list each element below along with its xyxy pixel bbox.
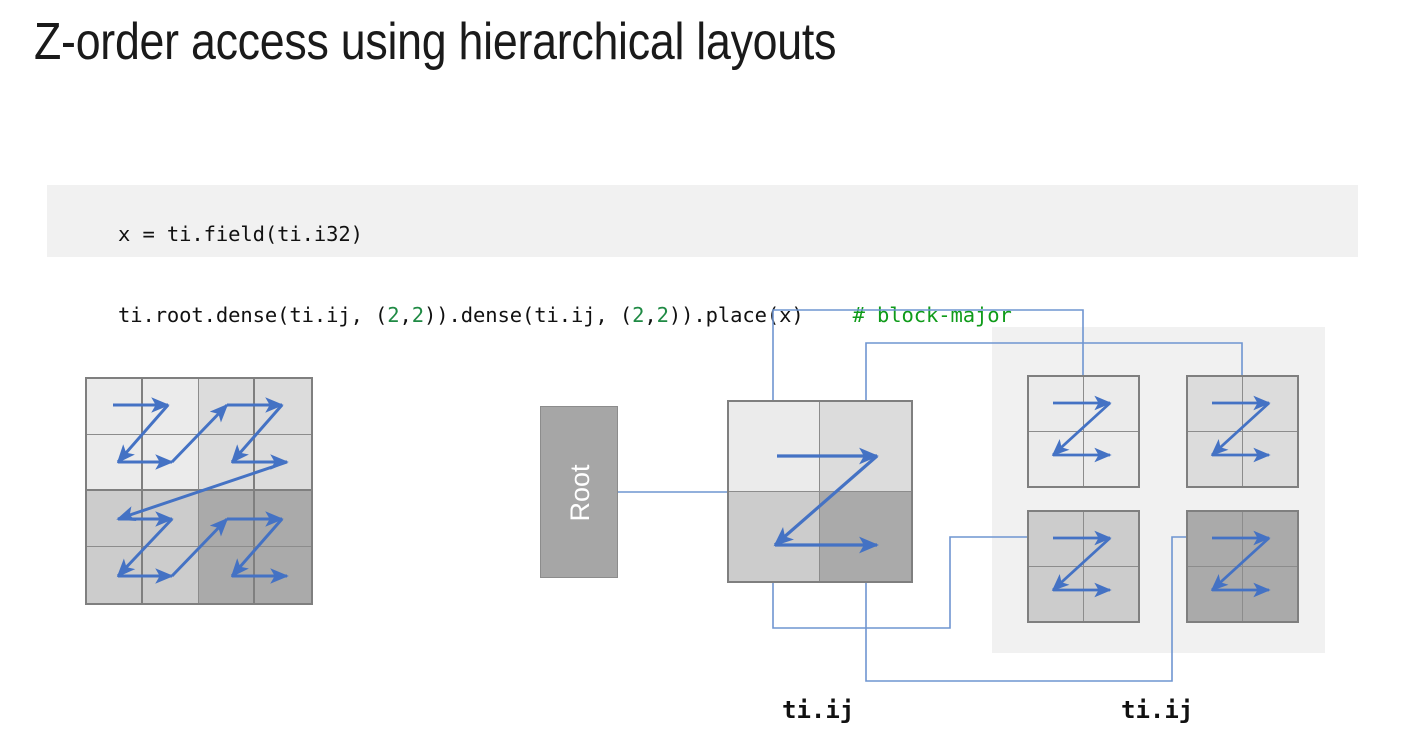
code-line-1: x = ti.field(ti.i32) [69, 194, 1358, 275]
grid-cell [143, 435, 199, 491]
grid-cell [1243, 512, 1298, 567]
grid-cell [1084, 512, 1139, 567]
grid-cell [143, 491, 199, 547]
grid-cell [1029, 377, 1084, 432]
page-title: Z-order access using hierarchical layout… [34, 12, 1152, 72]
grid-cell [87, 435, 143, 491]
grid-cell [1188, 512, 1243, 567]
grid-cell [199, 547, 255, 603]
left-flat-grid [85, 377, 313, 605]
grid-cell [1188, 377, 1243, 432]
block-level-node [727, 400, 913, 583]
code-num-3: 2 [632, 303, 644, 327]
sub-block-top-left [1027, 375, 1140, 488]
grid-cell [87, 491, 143, 547]
grid-cell [1243, 567, 1298, 622]
sub-block-bottom-right [1186, 510, 1299, 623]
grid-cell [87, 547, 143, 603]
grid-cell [255, 547, 311, 603]
code-block: x = ti.field(ti.i32) ti.root.dense(ti.ij… [47, 185, 1358, 257]
grid-cell [729, 402, 820, 492]
grid-cell [1188, 432, 1243, 487]
code-seg-b: )).dense(ti.ij, ( [424, 303, 632, 327]
grid-cell [1084, 377, 1139, 432]
code-comma-1: , [400, 303, 412, 327]
code-num-1: 2 [387, 303, 399, 327]
connector-label-right: ti.ij [1121, 696, 1193, 724]
grid-cell [820, 492, 911, 582]
grid-cell [255, 379, 311, 435]
code-line-1-text: x = ti.field(ti.i32) [118, 222, 363, 246]
connector-label-left: ti.ij [782, 696, 854, 724]
code-seg-a: ti.root.dense(ti.ij, ( [118, 303, 387, 327]
grid-cell [820, 402, 911, 492]
grid-cell [1029, 512, 1084, 567]
code-comment: # block-major [853, 303, 1012, 327]
grid-cell [199, 435, 255, 491]
grid-cell [1188, 567, 1243, 622]
code-seg-c: )).place(x) [669, 303, 804, 327]
grid-cell [87, 379, 143, 435]
grid-cell [1243, 432, 1298, 487]
grid-cell [143, 547, 199, 603]
code-num-2: 2 [412, 303, 424, 327]
code-gap [804, 303, 853, 327]
grid-cell [729, 492, 820, 582]
code-comma-2: , [644, 303, 656, 327]
code-num-4: 2 [657, 303, 669, 327]
grid-cell [199, 491, 255, 547]
root-node-label: Root [541, 407, 619, 579]
grid-cell [1029, 432, 1084, 487]
grid-cell [1084, 567, 1139, 622]
grid-cell [143, 379, 199, 435]
sub-block-bottom-left [1027, 510, 1140, 623]
grid-cell [1084, 432, 1139, 487]
grid-cell [1029, 567, 1084, 622]
grid-cell [1243, 377, 1298, 432]
grid-cell [199, 379, 255, 435]
grid-cell [255, 435, 311, 491]
root-node: Root [540, 406, 618, 578]
sub-block-top-right [1186, 375, 1299, 488]
grid-cell [255, 491, 311, 547]
